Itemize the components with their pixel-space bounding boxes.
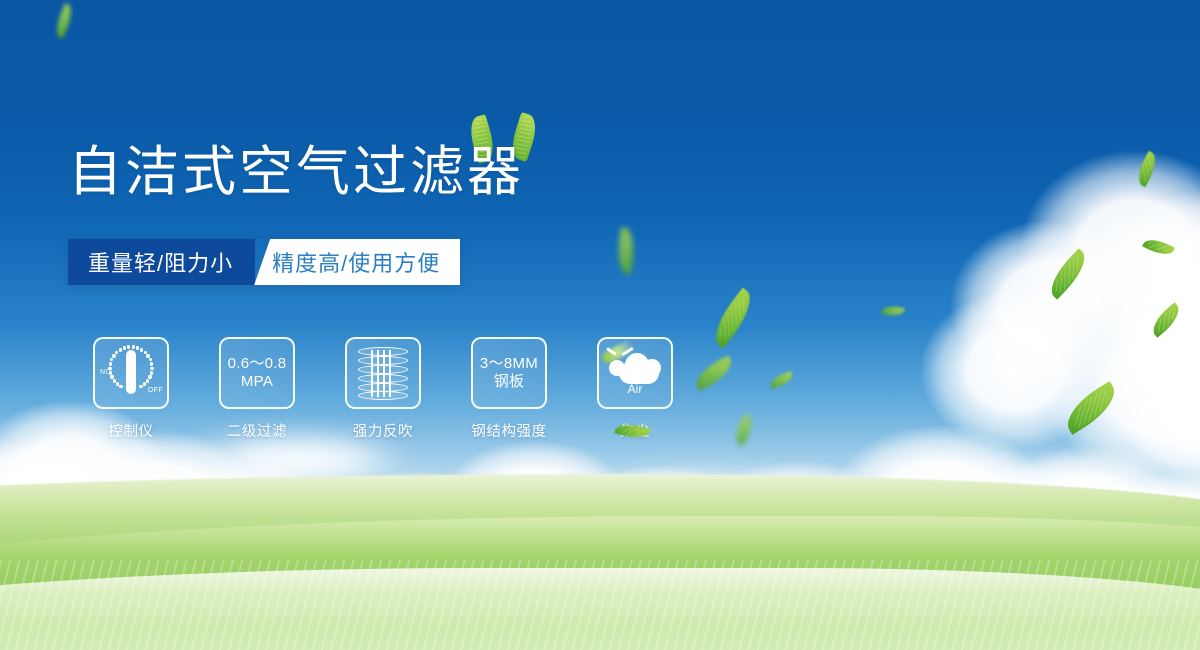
gauge-tick-dot [149, 358, 152, 361]
filter-ring [358, 365, 408, 374]
gauge-tick-dot [115, 351, 118, 354]
steel-value-line2: 钢板 [494, 373, 525, 391]
filter-ring [358, 374, 408, 383]
gauge-tick-dot [143, 382, 146, 385]
gauge-tick-dot [150, 371, 153, 374]
cloud-puff [643, 359, 661, 377]
gauge-needle [126, 350, 136, 394]
page-title: 自洁式空气过滤器 [68, 142, 524, 202]
gauge-tick-dot [148, 375, 151, 378]
gauge-tick-dot [109, 362, 112, 365]
filter-stack-icon [358, 346, 408, 400]
floating-leaf-7 [1142, 235, 1175, 260]
floating-leaf-8 [1147, 302, 1185, 337]
floating-leaf-2 [706, 288, 760, 349]
feature-icon-box-dust: Air [597, 337, 673, 409]
grass-texture [0, 560, 1200, 650]
gauge-label-no: NO [100, 369, 111, 376]
gauge-tick-dot [112, 354, 115, 357]
feature-icon-box-controller: NO OFF [93, 337, 169, 409]
feature-caption-blowback: 强力反吹 [353, 420, 413, 441]
floating-leaf-1 [615, 227, 637, 275]
filter-ring [358, 347, 408, 356]
gauge-tick-dot [146, 354, 149, 357]
product-banner: 自洁式空气过滤器 重量轻/阻力小 精度高/使用方便 NO OFF 控制仪 0.6… [0, 0, 1200, 650]
floating-leaf-5 [730, 414, 757, 447]
gauge-tick-dot [113, 379, 116, 382]
filter-ring [358, 391, 408, 400]
floating-leaf-11 [881, 304, 904, 318]
feature-item-pressure[interactable]: 0.6～0.8 MPA 二级过滤 [194, 337, 320, 441]
gauge-tick-dot [127, 345, 130, 348]
floating-leaf-9 [1059, 381, 1124, 435]
gauge-tick-dot [119, 348, 122, 351]
gauge-tick-dot [110, 358, 113, 361]
feature-list: NO OFF 控制仪 0.6～0.8 MPA 二级过滤 [68, 337, 698, 441]
gauge-tick-dot [119, 385, 122, 388]
feature-item-controller[interactable]: NO OFF 控制仪 [68, 337, 194, 441]
floating-leaf-3 [691, 355, 737, 391]
feature-icon-box-steel: 3～8MM 钢板 [471, 337, 547, 409]
floating-leaf-6 [1043, 248, 1094, 299]
filter-ring [358, 356, 408, 365]
gauge-tick-dot [116, 382, 119, 385]
cumulus-cloud-right [930, 130, 1200, 460]
feature-icon-box-pressure: 0.6～0.8 MPA [219, 337, 295, 409]
subtitle-right-text: 精度高/使用方便 [254, 239, 460, 285]
subtitle-bar: 重量轻/阻力小 精度高/使用方便 [68, 239, 460, 285]
floating-leaf-10 [1133, 151, 1161, 188]
gauge-tick-dot [150, 367, 153, 370]
gauge-tick-dot [146, 379, 149, 382]
air-cloud-icon: Air [605, 348, 665, 398]
feature-caption-controller: 控制仪 [108, 420, 153, 441]
gauge-tick-dot [136, 346, 139, 349]
feature-item-steel[interactable]: 3～8MM 钢板 钢结构强度 [446, 337, 572, 441]
gauge-tick-dot [140, 348, 143, 351]
cumulus-cloud-far-right [1080, 230, 1200, 490]
floating-leaf-4 [768, 371, 794, 389]
floating-leaf-top-left [52, 3, 77, 39]
steel-value-line1: 3～8MM [480, 355, 538, 373]
gauge-tick-dot [150, 362, 153, 365]
gauge-tick-dot [139, 385, 142, 388]
gauge-tick-dot [132, 345, 135, 348]
gauge-tick-dot [123, 346, 126, 349]
pressure-value-line1: 0.6～0.8 [228, 355, 287, 373]
gauge-icon: NO OFF [99, 344, 163, 402]
air-label: Air [605, 382, 665, 396]
feature-icon-box-blowback [345, 337, 421, 409]
feature-item-blowback[interactable]: 强力反吹 [320, 337, 446, 441]
feature-caption-pressure: 二级过滤 [227, 420, 287, 441]
subtitle-left-text: 重量轻/阻力小 [68, 239, 255, 285]
feature-caption-steel: 钢结构强度 [471, 420, 547, 441]
gauge-label-off: OFF [148, 387, 163, 394]
pressure-value-line2: MPA [241, 373, 273, 391]
